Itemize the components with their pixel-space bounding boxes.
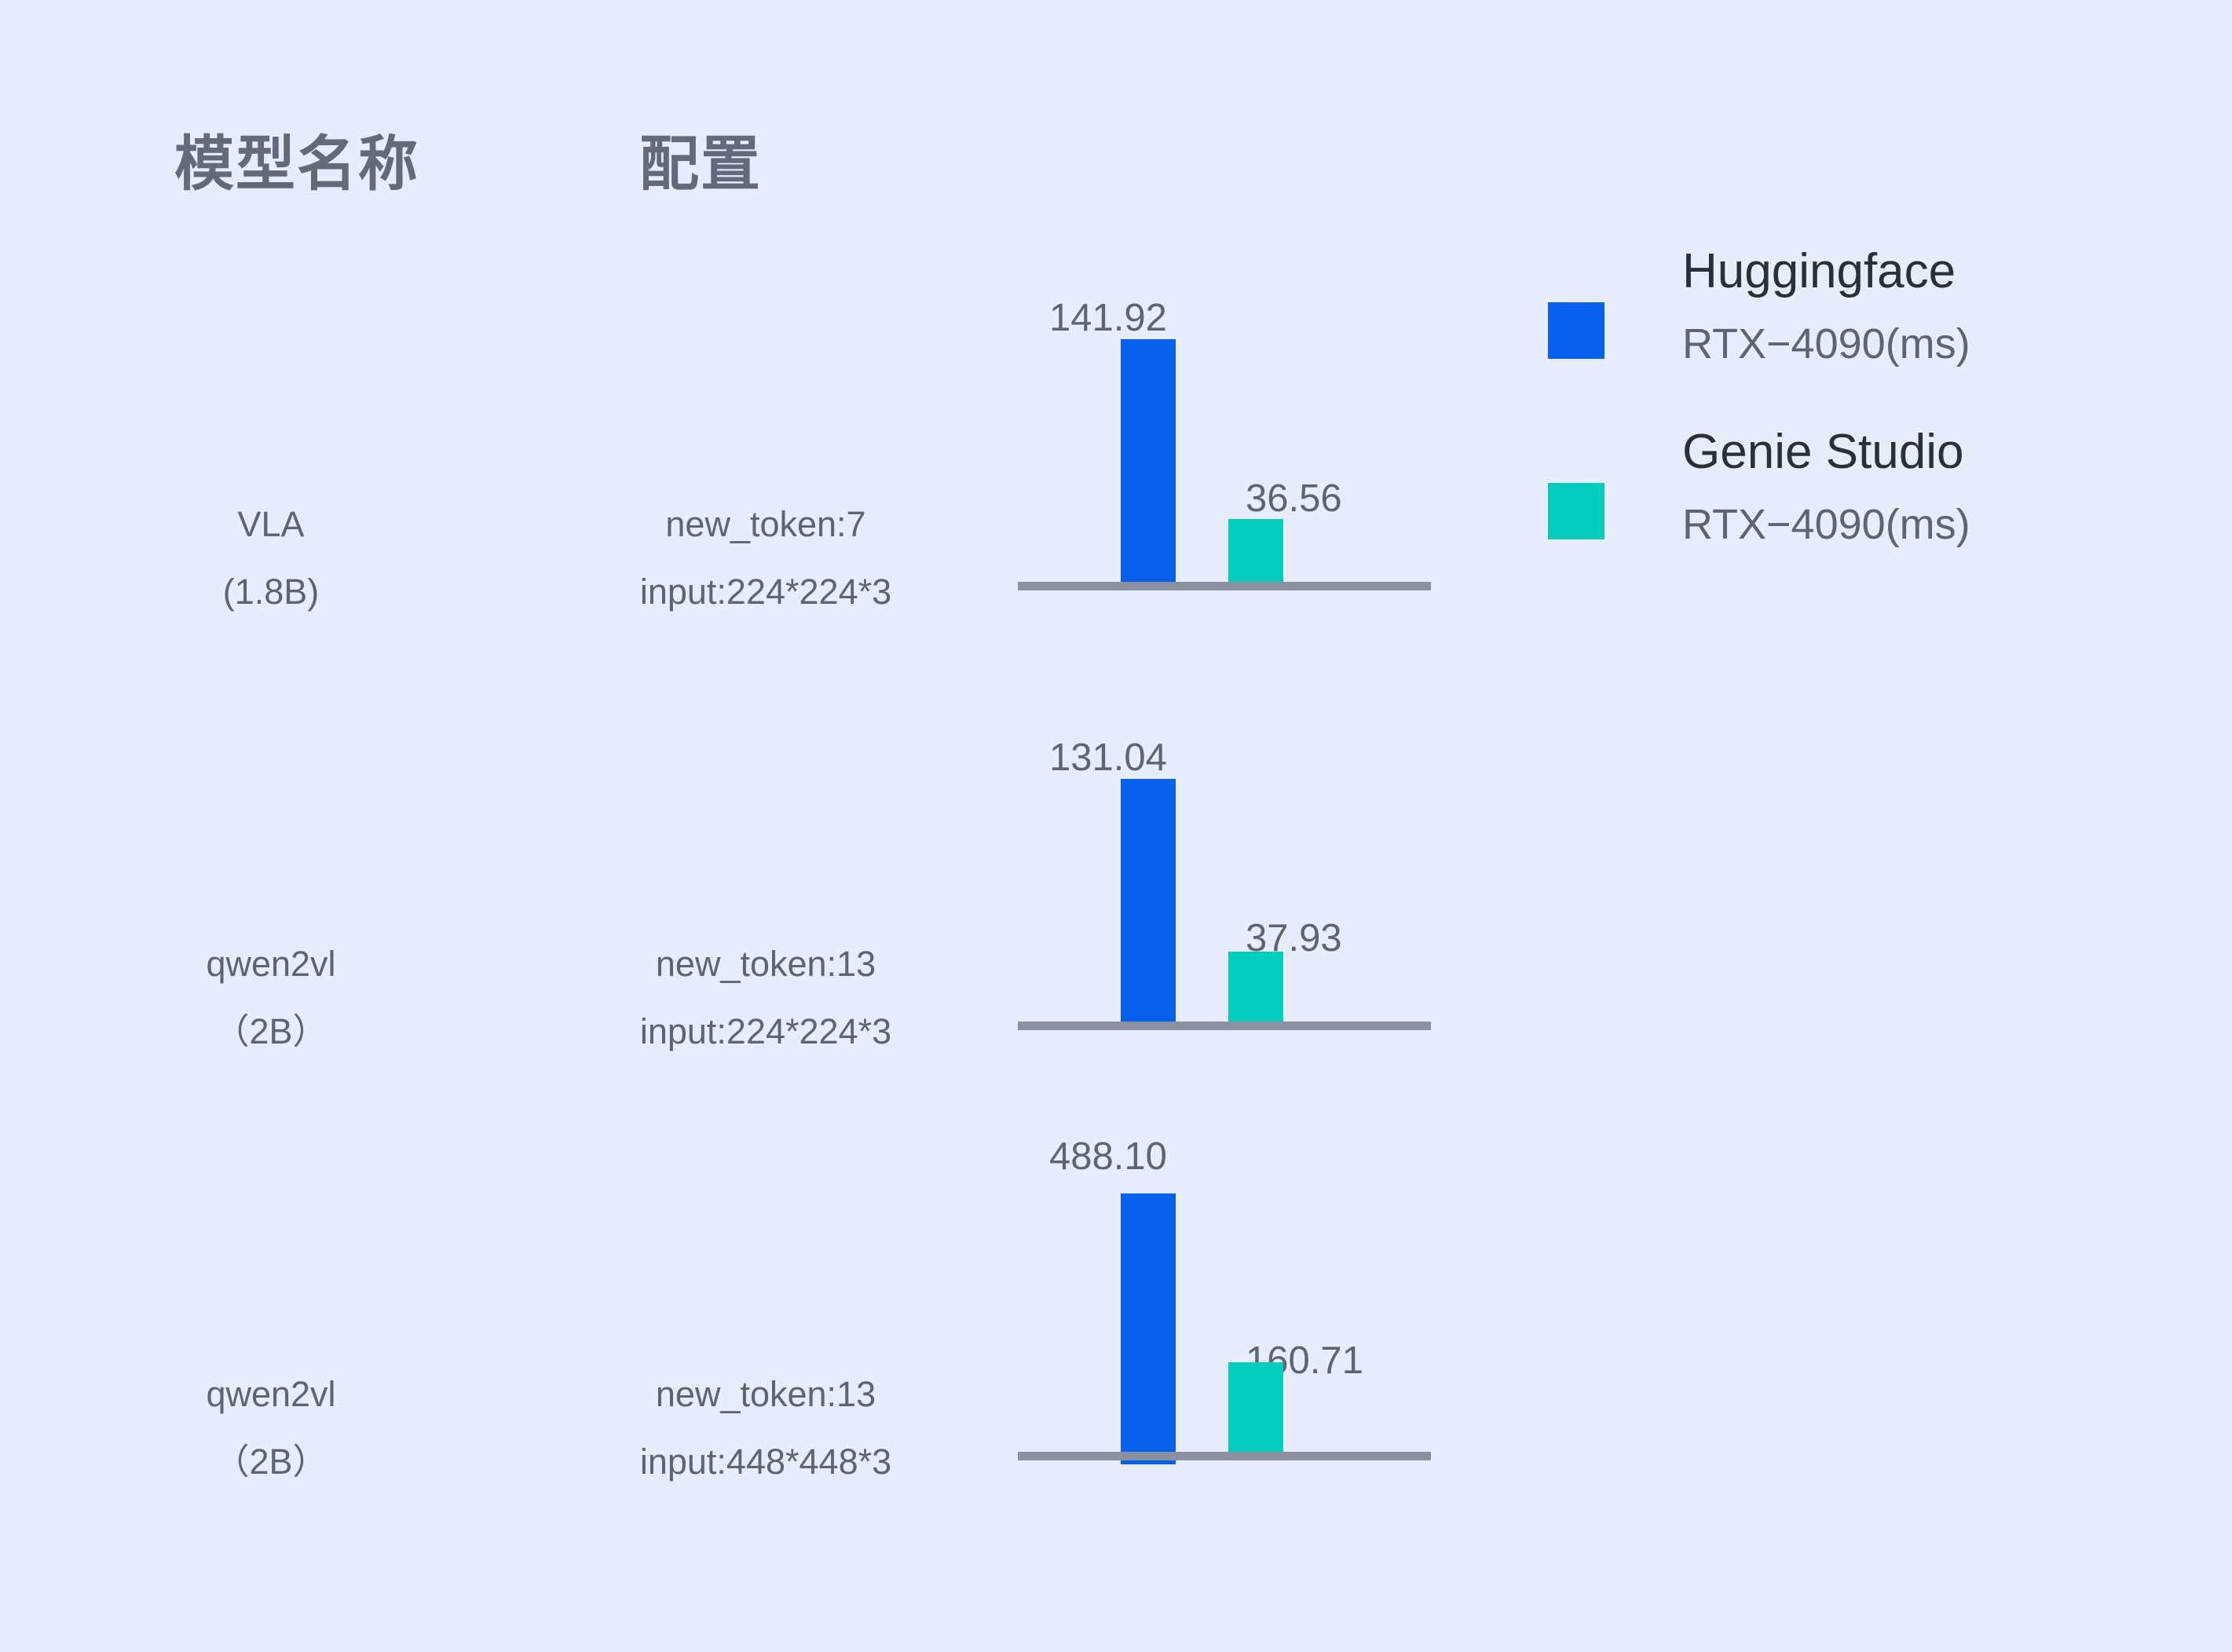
config-line2: input:224*224*3 (495, 558, 1037, 626)
square-swatch-icon (1548, 483, 1604, 539)
legend-label-sub: RTX−4090(ms) (1682, 488, 2153, 561)
model-name-line2: （2B） (149, 998, 393, 1065)
config-line1: new_token:7 (665, 504, 865, 544)
bar-genie-studio[interactable] (1228, 1362, 1283, 1452)
table-row: qwen2vl （2B） new_token:13 input:224*224*… (0, 667, 2232, 1091)
legend-item-genie-studio[interactable]: Genie Studio RTX−4090(ms) (1541, 416, 2169, 597)
bar-genie-studio[interactable] (1228, 952, 1283, 1022)
model-name-line1: qwen2vl (206, 1374, 335, 1414)
config-cell: new_token:13 input:224*224*3 (495, 930, 1037, 1065)
bar-chart-panel: 488.10 160.71 (1018, 1098, 1434, 1522)
config-line1: new_token:13 (656, 1374, 876, 1414)
config-cell: new_token:7 input:224*224*3 (495, 491, 1037, 626)
chart-legend: Huggingface RTX−4090(ms) Genie Studio RT… (1541, 236, 2169, 597)
bar-chart-panel: 131.04 37.93 (1018, 667, 1434, 1091)
model-name-line1: VLA (237, 504, 304, 544)
legend-label-name: Huggingface (1682, 236, 2153, 308)
config-line2: input:448*448*3 (495, 1428, 1037, 1496)
bar-value-huggingface: 131.04 (1049, 739, 1167, 777)
model-name-cell: qwen2vl （2B） (149, 930, 393, 1065)
bar-value-huggingface: 141.92 (1049, 299, 1167, 338)
model-name-cell: qwen2vl （2B） (149, 1361, 393, 1496)
config-line2: input:224*224*3 (495, 998, 1037, 1065)
legend-label-name: Genie Studio (1682, 416, 2153, 488)
model-name-line1: qwen2vl (206, 944, 335, 984)
axis-baseline (1018, 1452, 1431, 1460)
square-swatch-icon (1548, 302, 1604, 359)
legend-text-block: Huggingface RTX−4090(ms) (1682, 236, 2153, 380)
legend-label-sub: RTX−4090(ms) (1682, 308, 2153, 380)
bar-huggingface[interactable] (1121, 779, 1176, 1022)
bar-huggingface[interactable] (1121, 1193, 1176, 1464)
model-name-line2: (1.8B) (149, 558, 393, 626)
bar-value-genie-studio: 36.56 (1246, 480, 1342, 518)
model-name-line2: （2B） (149, 1428, 393, 1496)
config-cell: new_token:13 input:448*448*3 (495, 1361, 1037, 1496)
axis-baseline (1018, 582, 1431, 590)
bar-genie-studio[interactable] (1228, 519, 1283, 582)
bar-value-huggingface: 488.10 (1049, 1138, 1167, 1176)
legend-text-block: Genie Studio RTX−4090(ms) (1682, 416, 2153, 561)
bar-chart-panel: 141.92 36.56 (1018, 228, 1434, 652)
config-line1: new_token:13 (656, 944, 876, 984)
axis-baseline (1018, 1022, 1431, 1030)
legend-item-huggingface[interactable]: Huggingface RTX−4090(ms) (1541, 236, 2169, 416)
bar-huggingface[interactable] (1121, 339, 1176, 582)
table-row: qwen2vl （2B） new_token:13 input:448*448*… (0, 1098, 2232, 1522)
model-name-cell: VLA (1.8B) (149, 491, 393, 626)
